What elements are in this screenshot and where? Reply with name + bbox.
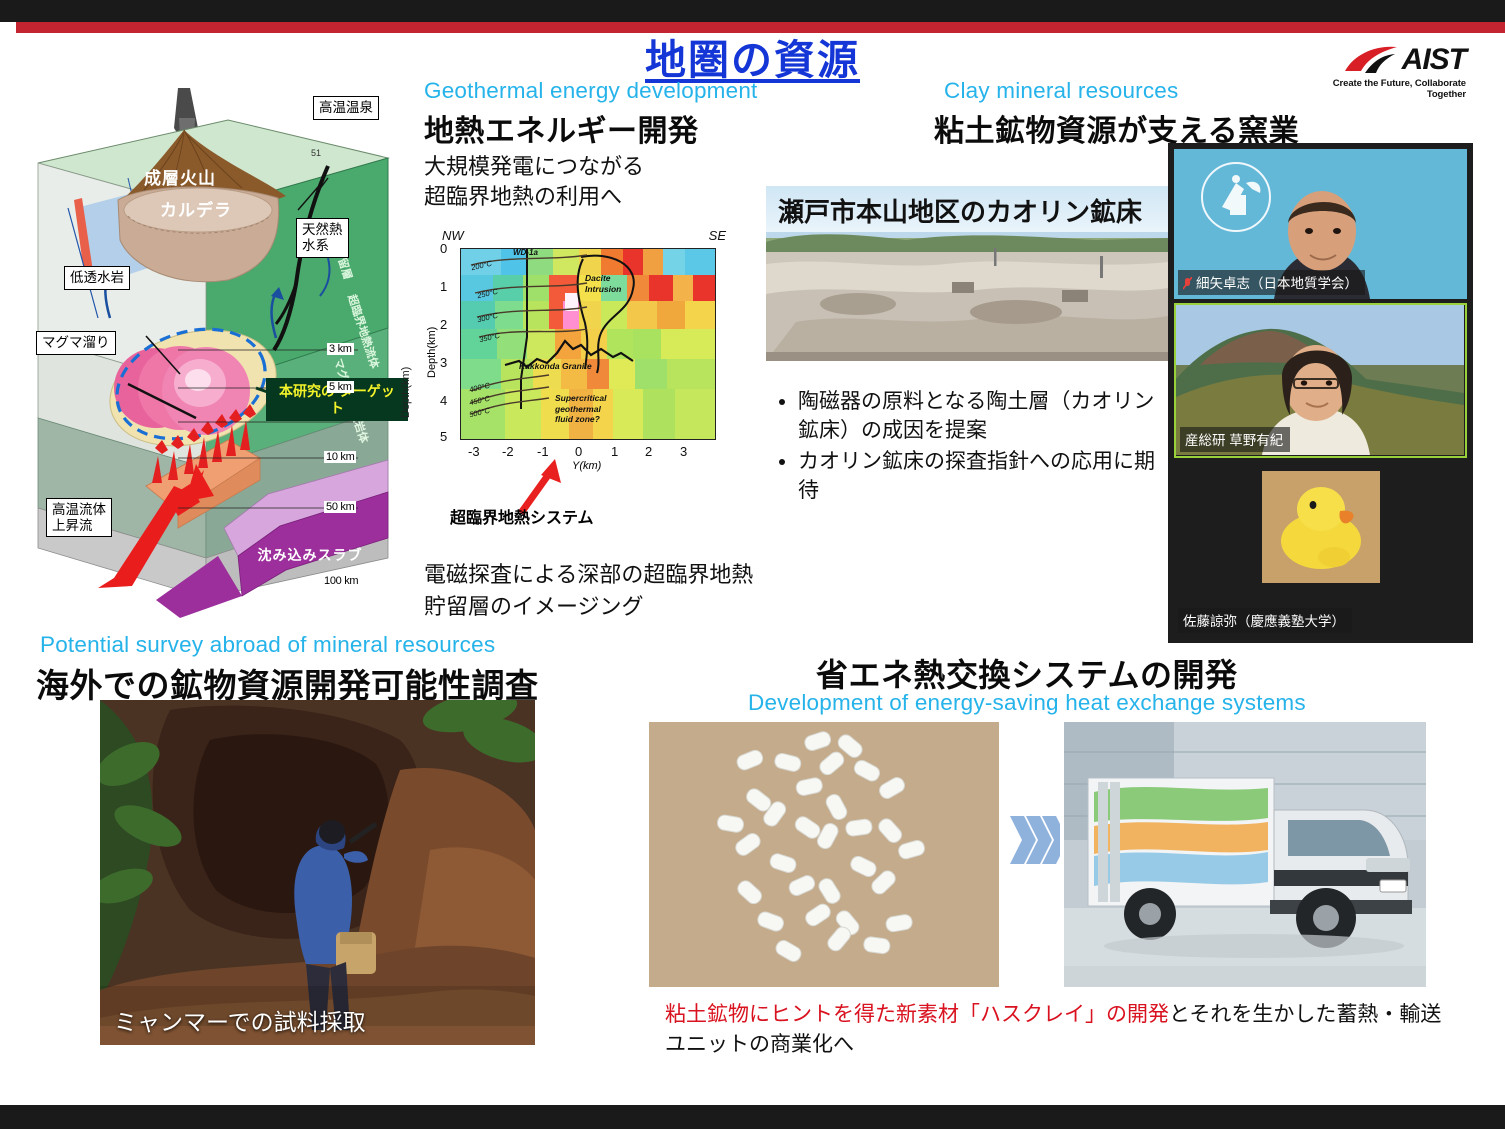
- chart-ylabel: Depth(km): [426, 327, 438, 378]
- process-arrow-chevrons: [1008, 812, 1060, 868]
- participant-tile-1[interactable]: 細矢卓志（日本地質学会）: [1174, 149, 1467, 299]
- chart-ytick-2: 2: [440, 317, 447, 332]
- video-meeting-panel[interactable]: 細矢卓志（日本地質学会） 産総研 草野有紀: [1168, 143, 1473, 643]
- depth-label-50km: 50 km: [324, 501, 356, 513]
- callout-hot-spring: 高温温泉: [313, 96, 379, 120]
- mic-muted-icon: [1183, 277, 1192, 290]
- aist-logo: AIST Create the Future, Collaborate Toge…: [1298, 44, 1466, 92]
- geothermal-footer-line2: 貯留層のイメージング: [424, 592, 644, 622]
- chart-ytick-4: 4: [440, 393, 447, 408]
- page-title: 地圏の資源: [0, 26, 1505, 86]
- aist-swoosh-icon: [1343, 45, 1399, 75]
- kaolin-photo-title: 瀬戸市本山地区のカオリン鉱床: [778, 192, 1142, 229]
- chart-ytick-3: 3: [440, 355, 447, 370]
- myanmar-photo-caption: ミャンマーでの試料採取: [114, 1003, 366, 1037]
- list-item: 陶磁器の原料となる陶土層（カオリン鉱床）の成因を提案: [798, 388, 1170, 446]
- side-small-label: 51: [311, 148, 321, 158]
- participant-tile-3[interactable]: 佐藤諒弥（慶應義塾大学）: [1174, 465, 1467, 637]
- chart-xlabel: Y(km): [572, 460, 601, 472]
- hasclay-caption-line2: ユニットの商業化へ: [665, 1033, 854, 1056]
- geothermal-body-line2: 超臨界地熱の利用へ: [424, 182, 622, 212]
- hasclay-pellets-photo: [649, 722, 999, 987]
- chart-orientation-se: SE: [709, 228, 726, 243]
- geothermal-body-line1: 大規模発電につながる: [424, 152, 644, 182]
- chart-ytick-0: 0: [440, 241, 447, 256]
- bottom-black-bar: [0, 1105, 1505, 1129]
- chart-xtick-0: 0: [575, 444, 582, 459]
- annotation-wd1a: WD-1a: [513, 248, 538, 258]
- chart-xtick-2: 2: [645, 444, 652, 459]
- mt-cross-section-chart: NW SE: [424, 228, 734, 488]
- heat-transport-truck-photo: [1064, 722, 1426, 987]
- supercritical-system-caption: 超臨界地熱システム: [450, 504, 594, 528]
- chart-xtick-3: 3: [680, 444, 687, 459]
- depth-label-100km: 100 km: [322, 575, 360, 587]
- aist-wordmark: AIST: [1402, 45, 1466, 75]
- geothermal-footer-line1: 電磁探査による深部の超臨界地熱: [424, 560, 753, 590]
- geothermal-japanese-heading: 地熱エネルギー開発: [424, 106, 699, 150]
- participant-name-2: 産総研 草野有紀: [1180, 427, 1290, 452]
- geothermal-block-diagram: 地熱貯留層 超臨界地熱流体 マグマ・高温岩体 成層火山 カルデラ 沈み込みスラブ…: [28, 88, 408, 618]
- clay-bullet-list: 陶磁器の原料となる陶土層（カオリン鉱床）の成因を提案 カオリン鉱床の探査指針への…: [778, 388, 1170, 508]
- participant-tile-2[interactable]: 産総研 草野有紀: [1174, 303, 1467, 458]
- svg-text:カルデラ: カルデラ: [160, 200, 232, 220]
- callout-hot-fluid-upflow: 高温流体 上昇流: [46, 498, 112, 537]
- clay-english-heading: Clay mineral resources: [944, 78, 1178, 104]
- chart-xtick-m3: -3: [468, 444, 480, 459]
- hasclay-caption-black: とそれを生かした蓄熱・輸送: [1169, 1003, 1441, 1026]
- top-black-bar: [0, 0, 1505, 22]
- depth-label-5km: 5 km: [327, 381, 354, 393]
- chart-xtick-1: 1: [611, 444, 618, 459]
- overseas-english-heading: Potential survey abroad of mineral resou…: [40, 632, 495, 658]
- hasclay-caption-red: 粘土鉱物にヒントを得た新素材「ハスクレイ」の開発: [665, 1003, 1169, 1026]
- svg-text:成層火山: 成層火山: [144, 168, 216, 188]
- chart-xtick-m2: -2: [502, 444, 514, 459]
- myanmar-sampling-photo: ミャンマーでの試料採取: [100, 700, 535, 1045]
- slide-root: 地圏の資源 AIST Create the Future, Collaborat…: [0, 0, 1505, 1129]
- bottom-white-bar: [0, 1096, 1505, 1105]
- callout-hydrothermal-system: 天然熱 水系: [296, 218, 349, 258]
- depth-label-3km: 3 km: [327, 343, 354, 355]
- chart-ytick-5: 5: [440, 429, 447, 444]
- chart-plot-area: 200°C 250°C 300°C 350°C 400°C 450°C 500°…: [460, 248, 716, 440]
- aist-tagline: Create the Future, Collaborate Together: [1298, 78, 1466, 100]
- depth-label-10km: 10 km: [324, 451, 356, 463]
- svg-text:沈み込みスラブ: 沈み込みスラブ: [258, 547, 363, 563]
- participant-name-1: 細矢卓志（日本地質学会）: [1178, 270, 1365, 295]
- geothermal-english-heading: Geothermal energy development: [424, 78, 758, 104]
- annotation-supercritical-zone: Supercritical geothermal fluid zone?: [555, 393, 607, 425]
- callout-caprock: 低透水岩: [64, 266, 130, 290]
- annotation-dacite-intrusion: Dacite Intrusion: [585, 273, 621, 294]
- participant-name-3: 佐藤諒弥（慶應義塾大学）: [1178, 608, 1352, 633]
- heat-exchange-english-heading: Development of energy-saving heat exchan…: [748, 690, 1306, 716]
- annotation-kakkonda-granite: Kakkonda Granite: [519, 361, 592, 372]
- chart-ytick-1: 1: [440, 279, 447, 294]
- block-depth-axis-label: Depth(km): [400, 367, 412, 418]
- list-item: カオリン鉱床の探査指針への応用に期待: [798, 448, 1170, 506]
- callout-magma-chamber: マグマ溜り: [36, 331, 116, 355]
- hasclay-caption: 粘土鉱物にヒントを得た新素材「ハスクレイ」の開発とそれを生かした蓄熱・輸送 ユニ…: [665, 1000, 1455, 1060]
